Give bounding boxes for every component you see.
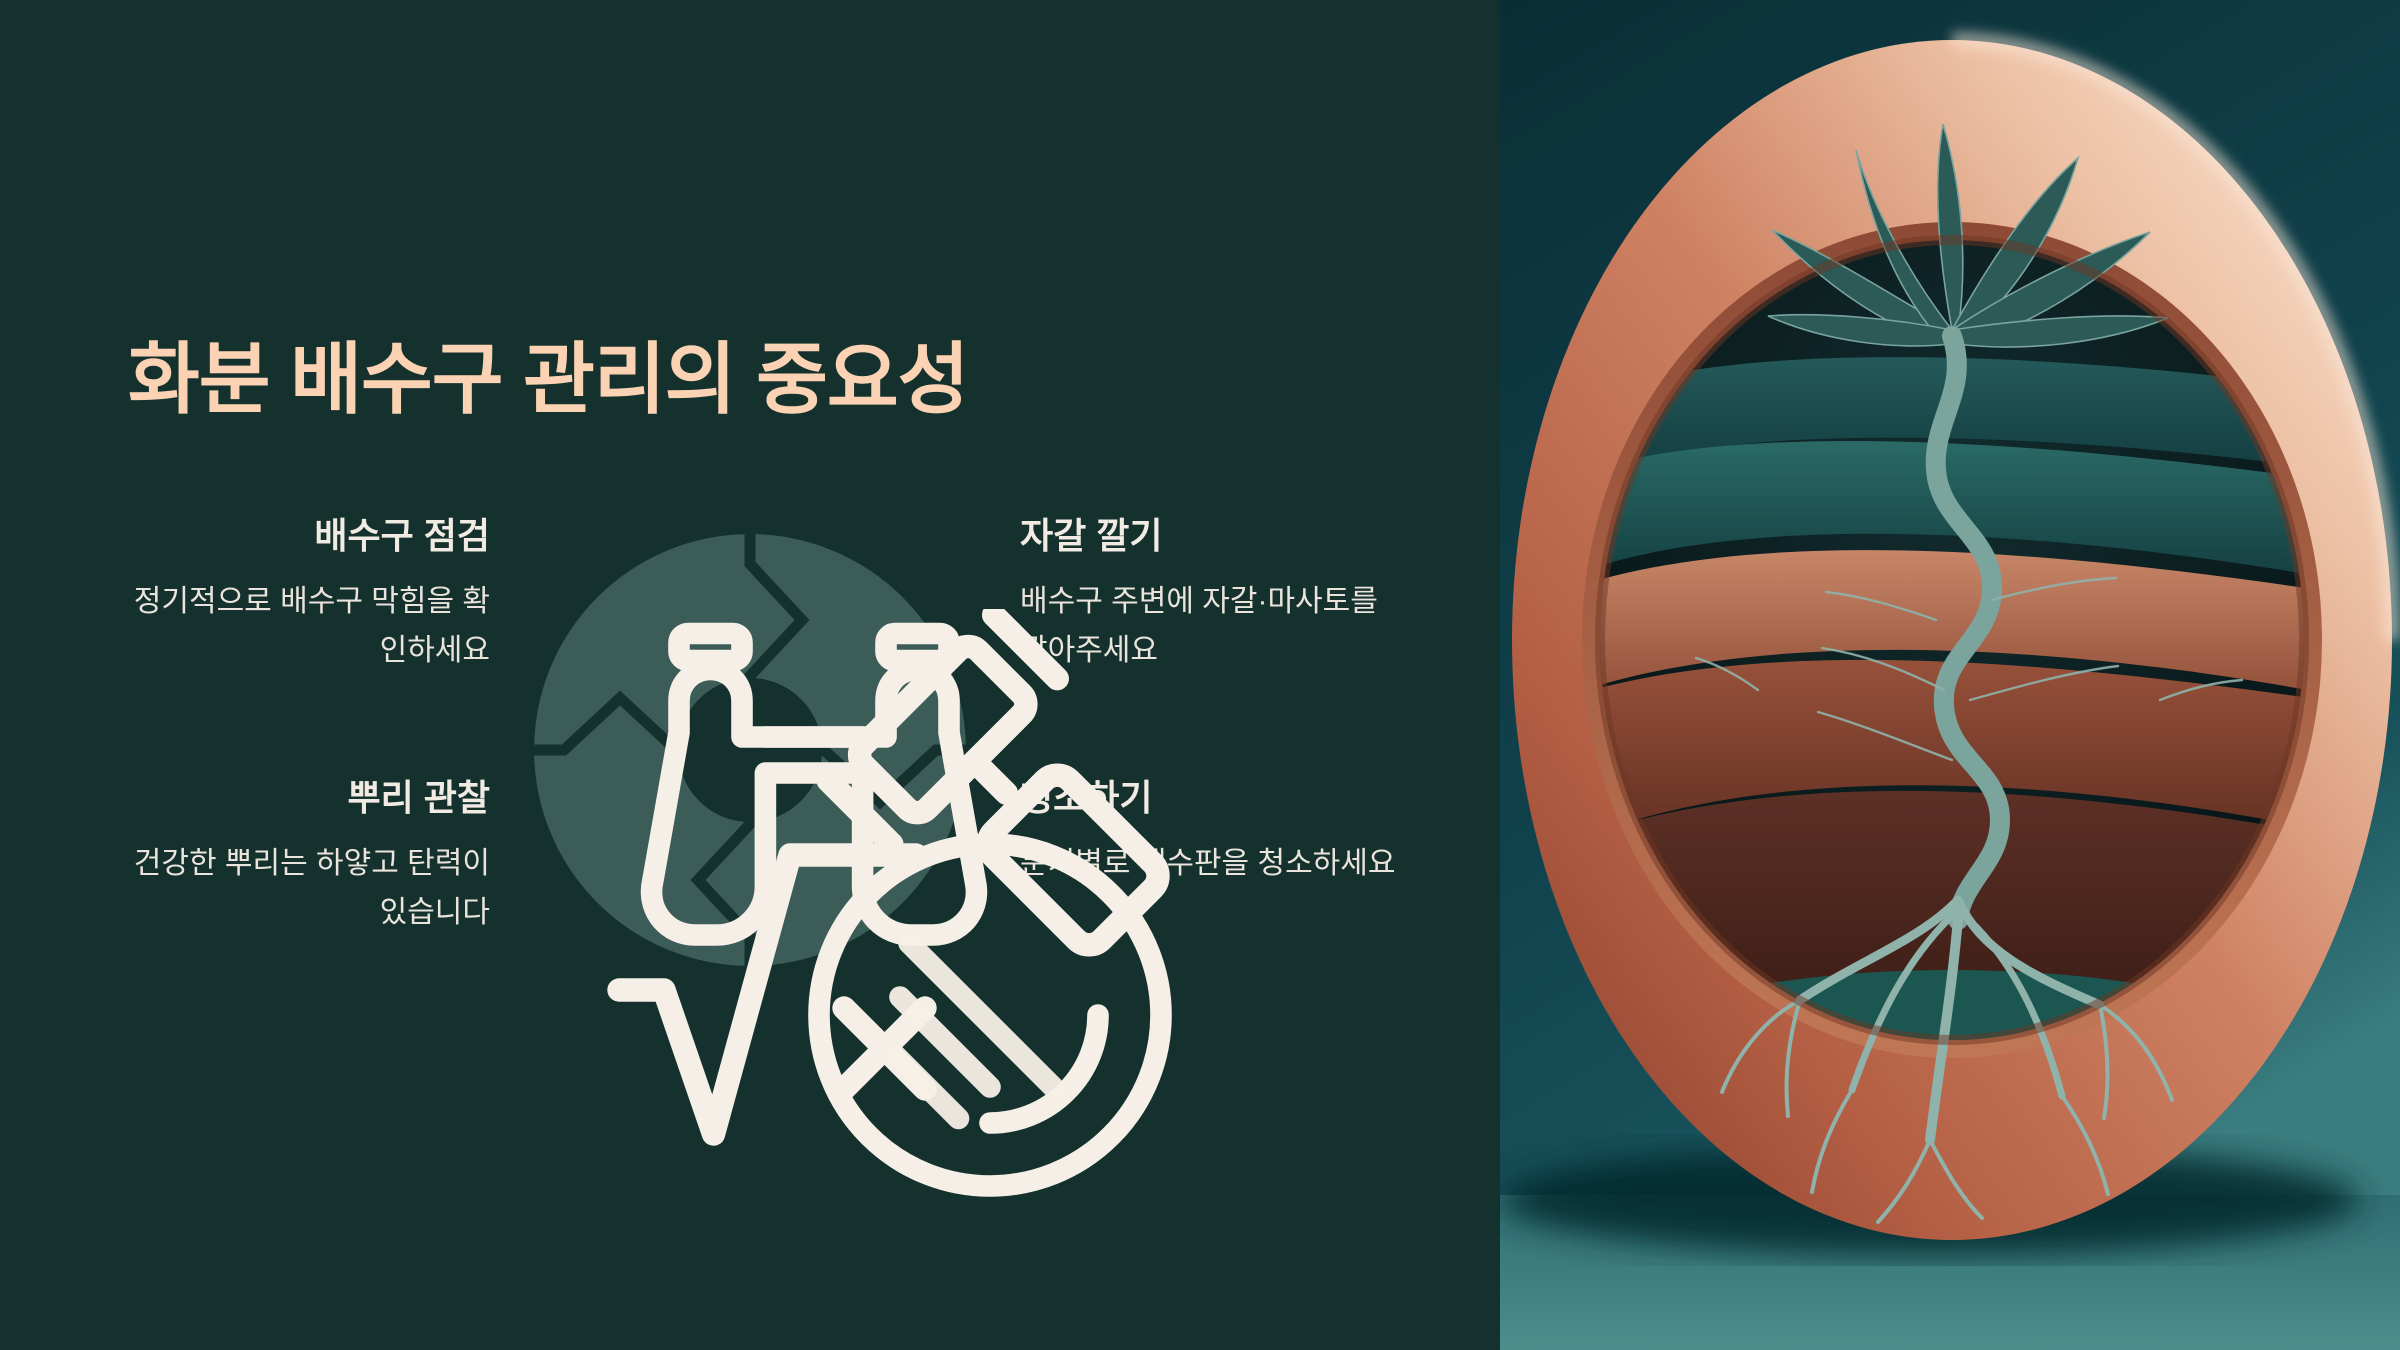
plant-cross-section-illustration (1500, 0, 2400, 1350)
feature-roots-body: 건강한 뿌리는 하얗고 탄력이 있습니다 (110, 840, 490, 937)
feature-roots-title: 뿌리 관찰 (110, 775, 490, 820)
feature-inspect-body: 정기적으로 배수구 막힘을 확인하세요 (110, 578, 490, 675)
gavel-icon (784, 609, 850, 675)
left-content-pane: 화분 배수구 관리의 중요성 배수구 점검 정기적으로 배수구 막힘을 확인하세… (0, 0, 1500, 1350)
feature-inspect-title: 배수구 점검 (110, 513, 490, 558)
cycle-diagram (534, 534, 966, 966)
feature-inspect: 배수구 점검 정기적으로 배수구 막힘을 확인하세요 (110, 513, 490, 675)
feature-gravel-title: 자갈 깔기 (1020, 513, 1400, 558)
slide-root: 화분 배수구 관리의 중요성 배수구 점검 정기적으로 배수구 막힘을 확인하세… (0, 0, 2400, 1350)
feature-roots: 뿌리 관찰 건강한 뿌리는 하얗고 탄력이 있습니다 (110, 775, 490, 937)
page-title: 화분 배수구 관리의 중요성 (128, 336, 1308, 423)
polish-circle-icon (774, 799, 840, 865)
square-root-icon (592, 774, 658, 840)
binoculars-icon (598, 584, 664, 650)
